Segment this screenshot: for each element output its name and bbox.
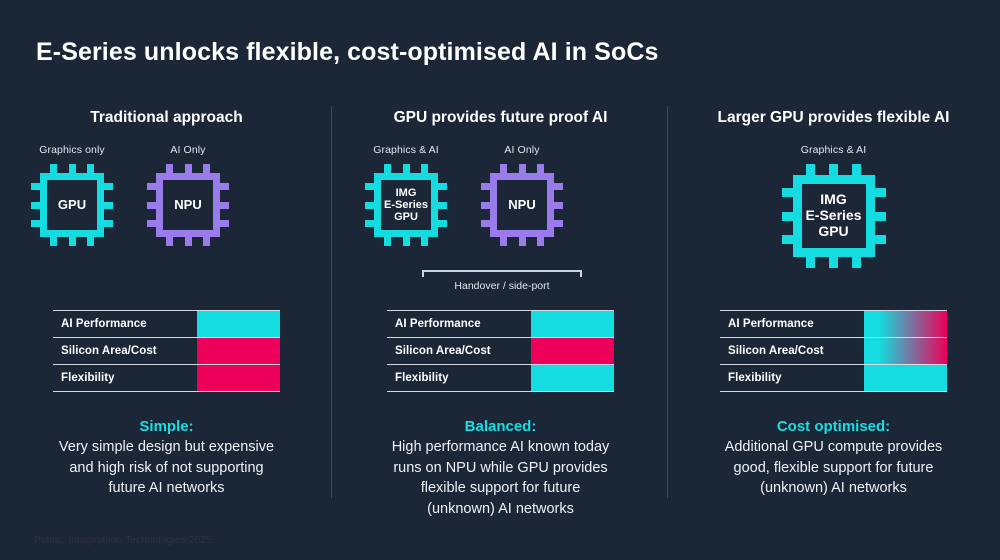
metric-bar-fill (197, 311, 280, 337)
chip-pin-bottom-2 (537, 237, 544, 246)
chip-pin-right-1 (875, 212, 886, 221)
column-gpu-future-proof: GPU provides future proof AI Graphics & … (334, 108, 667, 519)
chip-pin-top-2 (537, 164, 544, 173)
page-title: E-Series unlocks flexible, cost-optimise… (36, 38, 659, 67)
metric-row: AI Performance (720, 310, 947, 337)
caption-text: Additional GPU compute provides good, fl… (683, 437, 984, 499)
chip-pin-bottom-1 (69, 237, 76, 246)
chip-caption: AI Only (481, 144, 563, 156)
chip-pin-right-1 (220, 202, 229, 209)
chip-pin-bottom-2 (87, 237, 94, 246)
chip-pin-right-0 (554, 183, 563, 190)
chip-pin-left-1 (31, 202, 40, 209)
chip-label: GPU (58, 198, 86, 213)
caption-text: Very simple design but expensive and hig… (16, 437, 317, 499)
chip-label: IMG E-Series GPU (805, 192, 861, 239)
chip-pin-left-1 (782, 212, 793, 221)
metric-bar-fill (197, 338, 280, 364)
chip-pin-top-1 (829, 164, 838, 175)
metric-row: Flexibility (720, 364, 947, 392)
chip-pin-bottom-0 (806, 257, 815, 268)
metric-row: Flexibility (53, 364, 280, 392)
chip-label: NPU (508, 198, 535, 213)
metric-bar-fill (531, 365, 614, 391)
chip-group-1: Graphics & AIIMG E-Series GPU (365, 144, 447, 246)
chip-group-1: Graphics & AIIMG E-Series GPU (782, 144, 886, 268)
metric-label: Flexibility (53, 372, 197, 384)
chip-pin-right-1 (438, 202, 447, 209)
chip-body: NPU (490, 173, 554, 237)
handover-label: Handover / side-port (422, 280, 582, 292)
chip-pin-bottom-1 (403, 237, 410, 246)
chip-pin-left-1 (147, 202, 156, 209)
chip-pin-right-0 (220, 183, 229, 190)
metric-label: Silicon Area/Cost (53, 345, 197, 357)
chip-pin-right-2 (554, 220, 563, 227)
chip-icon: IMG E-Series GPU (782, 164, 886, 268)
chip-label: IMG E-Series GPU (384, 187, 428, 224)
chip-group-2: AI OnlyNPU (147, 144, 229, 246)
chip-icon: IMG E-Series GPU (365, 164, 447, 246)
chip-label: NPU (174, 198, 201, 213)
chip-pin-top-0 (500, 164, 507, 173)
chip-caption: Graphics only (31, 144, 113, 156)
handover-bracket (422, 270, 582, 277)
chip-pin-left-2 (481, 220, 490, 227)
metric-row: Silicon Area/Cost (720, 337, 947, 364)
chip-caption: Graphics & AI (782, 144, 886, 156)
metric-label: Flexibility (720, 372, 864, 384)
column-traditional-approach: Traditional approach Graphics onlyGPUAI … (0, 108, 333, 499)
chip-pin-top-1 (403, 164, 410, 173)
chip-pin-top-0 (384, 164, 391, 173)
chip-pin-right-0 (104, 183, 113, 190)
chip-pin-top-1 (185, 164, 192, 173)
chip-pin-top-1 (519, 164, 526, 173)
metric-bars: AI PerformanceSilicon Area/CostFlexibili… (387, 310, 614, 392)
chip-pin-left-1 (365, 202, 374, 209)
column-title: Larger GPU provides flexible AI (667, 108, 1000, 128)
chip-pin-bottom-2 (421, 237, 428, 246)
chip-pin-top-2 (421, 164, 428, 173)
metric-row: Flexibility (387, 364, 614, 392)
chip-group-2: AI OnlyNPU (481, 144, 563, 246)
caption-heading: Simple: (16, 418, 317, 435)
chip-body: NPU (156, 173, 220, 237)
chip-icon: GPU (31, 164, 113, 246)
chip-pin-top-0 (50, 164, 57, 173)
chip-area: Graphics & AIIMG E-Series GPUAI OnlyNPUH… (334, 144, 667, 306)
chip-pin-left-2 (365, 220, 374, 227)
metric-bars: AI PerformanceSilicon Area/CostFlexibili… (53, 310, 280, 392)
column-title: Traditional approach (0, 108, 333, 128)
chip-pin-top-2 (852, 164, 861, 175)
chip-pin-top-1 (69, 164, 76, 173)
metric-label: Silicon Area/Cost (720, 345, 864, 357)
metric-label: Silicon Area/Cost (387, 345, 531, 357)
metric-bar-fill (531, 311, 614, 337)
chip-pin-right-2 (438, 220, 447, 227)
metric-bar-fill (864, 338, 947, 364)
metric-label: AI Performance (720, 318, 864, 330)
metric-row: AI Performance (387, 310, 614, 337)
chip-pin-bottom-1 (829, 257, 838, 268)
metric-bars: AI PerformanceSilicon Area/CostFlexibili… (720, 310, 947, 392)
chip-pin-right-1 (554, 202, 563, 209)
chip-pin-left-2 (31, 220, 40, 227)
metric-label: Flexibility (387, 372, 531, 384)
column-caption: Balanced: High performance AI known toda… (334, 418, 667, 519)
handover-annotation: Handover / side-port (422, 270, 582, 292)
metric-bar-fill (197, 365, 280, 391)
metric-row: AI Performance (53, 310, 280, 337)
metric-row: Silicon Area/Cost (387, 337, 614, 364)
chip-pin-right-0 (438, 183, 447, 190)
column-title: GPU provides future proof AI (334, 108, 667, 128)
caption-text: High performance AI known today runs on … (350, 437, 651, 519)
chip-pin-top-0 (166, 164, 173, 173)
column-caption: Cost optimised: Additional GPU compute p… (667, 418, 1000, 499)
chip-pin-left-2 (782, 235, 793, 244)
chip-body: GPU (40, 173, 104, 237)
chip-pin-bottom-0 (166, 237, 173, 246)
chip-pin-bottom-2 (203, 237, 210, 246)
chip-pin-left-0 (31, 183, 40, 190)
chip-area: Graphics onlyGPUAI OnlyNPU (0, 144, 333, 306)
chip-pin-left-2 (147, 220, 156, 227)
metric-bar-fill (864, 311, 947, 337)
metric-label: AI Performance (387, 318, 531, 330)
caption-heading: Balanced: (350, 418, 651, 435)
chip-pin-top-2 (87, 164, 94, 173)
footer-copyright: Public, Imagination Technologies 2025 (34, 535, 212, 546)
chip-pin-left-0 (481, 183, 490, 190)
chip-pin-left-0 (147, 183, 156, 190)
chip-pin-right-2 (220, 220, 229, 227)
chip-group-1: Graphics onlyGPU (31, 144, 113, 246)
chip-pin-top-0 (806, 164, 815, 175)
chip-body: IMG E-Series GPU (374, 173, 438, 237)
chip-pin-top-2 (203, 164, 210, 173)
chip-body: IMG E-Series GPU (793, 175, 875, 257)
chip-caption: Graphics & AI (365, 144, 447, 156)
chip-pin-right-2 (104, 220, 113, 227)
metric-row: Silicon Area/Cost (53, 337, 280, 364)
chip-pin-right-1 (104, 202, 113, 209)
chip-pin-right-0 (875, 188, 886, 197)
chip-area: Graphics & AIIMG E-Series GPU (667, 144, 1000, 306)
metric-bar-fill (864, 365, 947, 391)
chip-pin-right-2 (875, 235, 886, 244)
chip-icon: NPU (481, 164, 563, 246)
metric-label: AI Performance (53, 318, 197, 330)
chip-pin-bottom-0 (50, 237, 57, 246)
chip-pin-bottom-0 (384, 237, 391, 246)
chip-icon: NPU (147, 164, 229, 246)
chip-caption: AI Only (147, 144, 229, 156)
metric-bar-fill (531, 338, 614, 364)
chip-pin-left-0 (782, 188, 793, 197)
chip-pin-bottom-2 (852, 257, 861, 268)
chip-pin-left-1 (481, 202, 490, 209)
chip-pin-bottom-1 (185, 237, 192, 246)
caption-heading: Cost optimised: (683, 418, 984, 435)
column-larger-gpu-flexible: Larger GPU provides flexible AI Graphics… (667, 108, 1000, 499)
chip-pin-bottom-0 (500, 237, 507, 246)
column-caption: Simple: Very simple design but expensive… (0, 418, 333, 499)
chip-pin-left-0 (365, 183, 374, 190)
chip-pin-bottom-1 (519, 237, 526, 246)
